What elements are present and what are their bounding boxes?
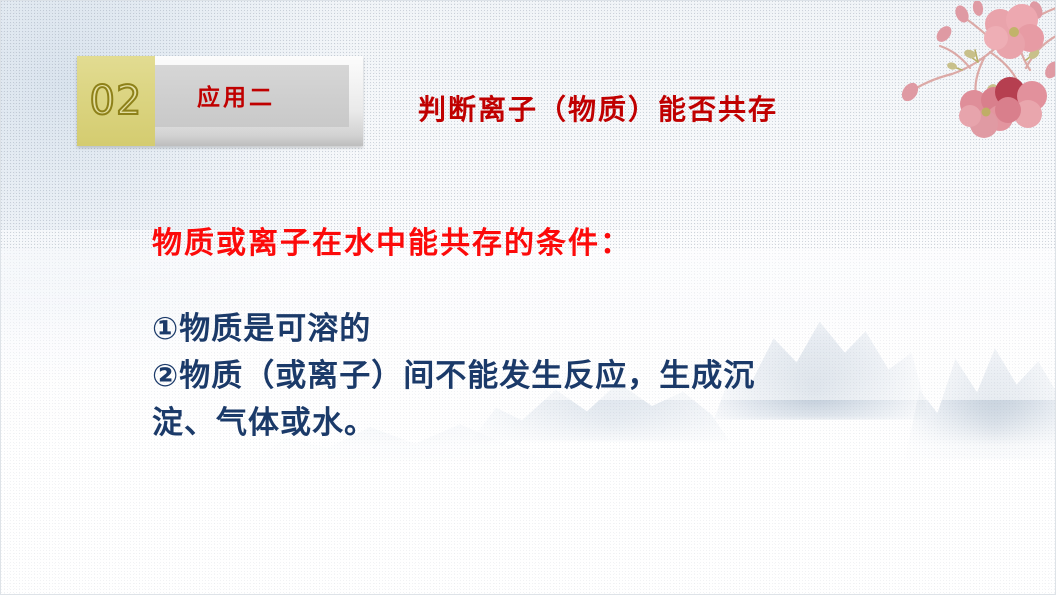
presentation-slide: 02 应用二 判断离子（物质）能否共存 物质或离子在水中能共存的条件： ①物质是… <box>0 0 1056 595</box>
page-title: 判断离子（物质）能否共存 <box>418 88 778 128</box>
body-line-1: ①物质是可溶的 <box>152 306 952 353</box>
section-label: 应用二 <box>197 78 275 112</box>
subtitle-heading: 物质或离子在水中能共存的条件： <box>152 218 632 262</box>
body-line-3: 淀、气体或水。 <box>152 400 952 447</box>
section-number-badge: 02 <box>77 56 155 146</box>
plum-blossom-branch-icon <box>866 0 1056 150</box>
body-content: ①物质是可溶的 ②物质（或离子）间不能发生反应，生成沉 淀、气体或水。 <box>152 306 952 447</box>
section-banner: 02 应用二 <box>77 56 363 146</box>
body-line-2: ②物质（或离子）间不能发生反应，生成沉 <box>152 353 952 400</box>
section-number-text: 02 <box>90 78 143 124</box>
